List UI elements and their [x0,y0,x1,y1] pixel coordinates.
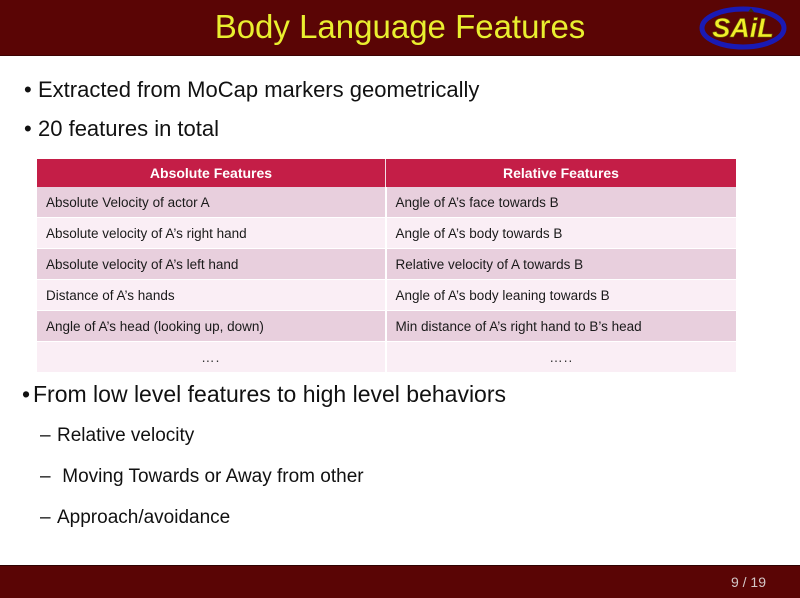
sub-bullet-moving-towards-away: – Moving Towards or Away from other [40,466,364,488]
dash-marker-icon: – [40,425,57,447]
svg-text:SAiL: SAiL [712,13,774,43]
bullet-text: From low level features to high level be… [33,381,506,407]
dash-marker-icon: – [40,507,57,529]
cell-absolute-feature: Absolute velocity of A’s right hand [37,218,386,249]
cell-relative-feature: Angle of A’s body leaning towards B [386,280,737,311]
cell-absolute-ellipsis: …. [37,342,386,373]
cell-relative-ellipsis: ….. [386,342,737,373]
table-row: Absolute Velocity of actor A Angle of A’… [37,187,736,218]
column-header-absolute-features: Absolute Features [37,159,386,187]
cell-absolute-feature: Absolute Velocity of actor A [37,187,386,218]
sub-bullet-approach-avoidance: –Approach/avoidance [40,507,230,529]
slide-content: •Extracted from MoCap markers geometrica… [0,56,800,565]
cell-absolute-feature: Angle of A’s head (looking up, down) [37,311,386,342]
bullet-text: 20 features in total [38,116,219,141]
table-row: Absolute velocity of A’s right hand Angl… [37,218,736,249]
cell-relative-feature: Relative velocity of A towards B [386,249,737,280]
features-table: Absolute Features Relative Features Abso… [37,159,736,372]
sub-bullet-text: Moving Towards or Away from other [57,466,364,487]
table-body: Absolute Velocity of actor A Angle of A’… [37,187,736,372]
table-row: Angle of A’s head (looking up, down) Min… [37,311,736,342]
bullet-text: Extracted from MoCap markers geometrical… [38,77,479,102]
cell-absolute-feature: Distance of A’s hands [37,280,386,311]
sub-bullet-text: Approach/avoidance [57,507,230,528]
table-header: Absolute Features Relative Features [37,159,736,187]
cell-relative-feature: Angle of A’s body towards B [386,218,737,249]
slide-title-bar: Body Language Features SAiL [0,0,800,56]
column-header-relative-features: Relative Features [386,159,737,187]
table-row-ellipsis: …. ….. [37,342,736,373]
bullet-extracted-from-mocap: •Extracted from MoCap markers geometrica… [24,77,479,103]
sub-bullet-text: Relative velocity [57,425,194,446]
bullet-marker-icon: • [24,77,38,103]
page-title: Body Language Features [0,0,800,54]
sail-logo: SAiL [698,4,788,52]
page-number: 9 / 19 [731,566,766,598]
bullet-20-features: •20 features in total [24,116,219,142]
bullet-marker-icon: • [22,381,33,408]
bullet-marker-icon: • [24,116,38,142]
slide-footer-bar: 9 / 19 [0,565,800,598]
table-row: Distance of A’s hands Angle of A’s body … [37,280,736,311]
sub-bullet-relative-velocity: –Relative velocity [40,425,194,447]
cell-absolute-feature: Absolute velocity of A’s left hand [37,249,386,280]
cell-relative-feature: Min distance of A’s right hand to B’s he… [386,311,737,342]
table-row: Absolute velocity of A’s left hand Relat… [37,249,736,280]
table-header-row: Absolute Features Relative Features [37,159,736,187]
dash-marker-icon: – [40,466,57,488]
cell-relative-feature: Angle of A’s face towards B [386,187,737,218]
bullet-low-to-high-level: •From low level features to high level b… [22,381,506,408]
